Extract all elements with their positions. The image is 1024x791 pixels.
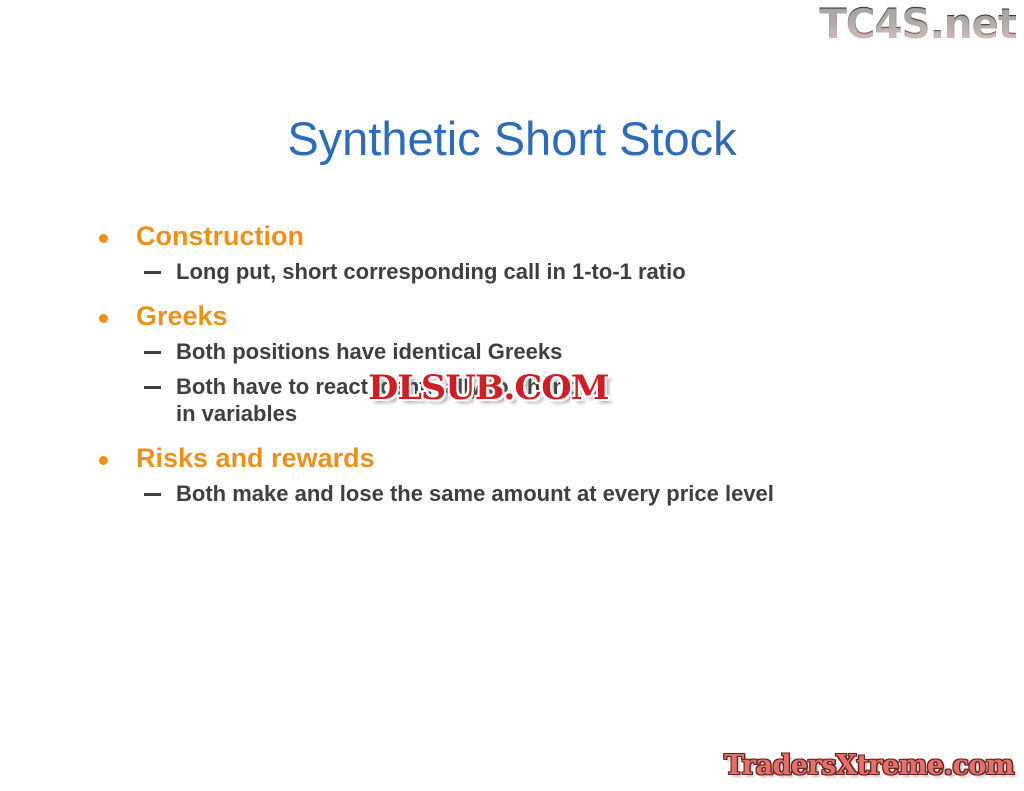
- bullet-heading-construction: Construction: [88, 222, 968, 251]
- bullet-heading-risks-and-rewards: Risks and rewards: [88, 444, 968, 473]
- bullet-dot-icon: [99, 234, 108, 243]
- sub-bullet-label: Both positions have identical Greeks: [176, 339, 968, 366]
- dash-marker-icon: [144, 493, 161, 496]
- bullet-dot-icon: [99, 456, 108, 465]
- tradersxtreme-footer-watermark: TradersXtreme.com: [724, 750, 1014, 781]
- bullet-dot-icon: [99, 314, 108, 323]
- tc4s-brand-logo: TC4S.net: [819, 2, 1016, 46]
- dash-marker-icon: [144, 351, 161, 354]
- sub-bullet-risks-1: Both make and lose the same amount at ev…: [88, 481, 968, 508]
- dash-marker-icon: [144, 271, 161, 274]
- bullet-heading-label: Construction: [136, 221, 304, 251]
- sub-bullet-label: Long put, short corresponding call in 1-…: [176, 259, 968, 286]
- dlsub-overlay-watermark: DLSUB.COM: [368, 368, 608, 408]
- sub-bullet-label: Both make and lose the same amount at ev…: [176, 481, 968, 508]
- sub-bullet-construction-1: Long put, short corresponding call in 1-…: [88, 259, 968, 286]
- dash-marker-icon: [144, 386, 161, 389]
- bullet-heading-greeks: Greeks: [88, 302, 968, 331]
- sub-bullet-greeks-1: Both positions have identical Greeks: [88, 339, 968, 366]
- bullet-heading-label: Greeks: [136, 301, 228, 331]
- presentation-slide: TC4S.net Synthetic Short Stock Construct…: [0, 0, 1024, 791]
- bullet-heading-label: Risks and rewards: [136, 443, 375, 473]
- page-title: Synthetic Short Stock: [0, 112, 1024, 166]
